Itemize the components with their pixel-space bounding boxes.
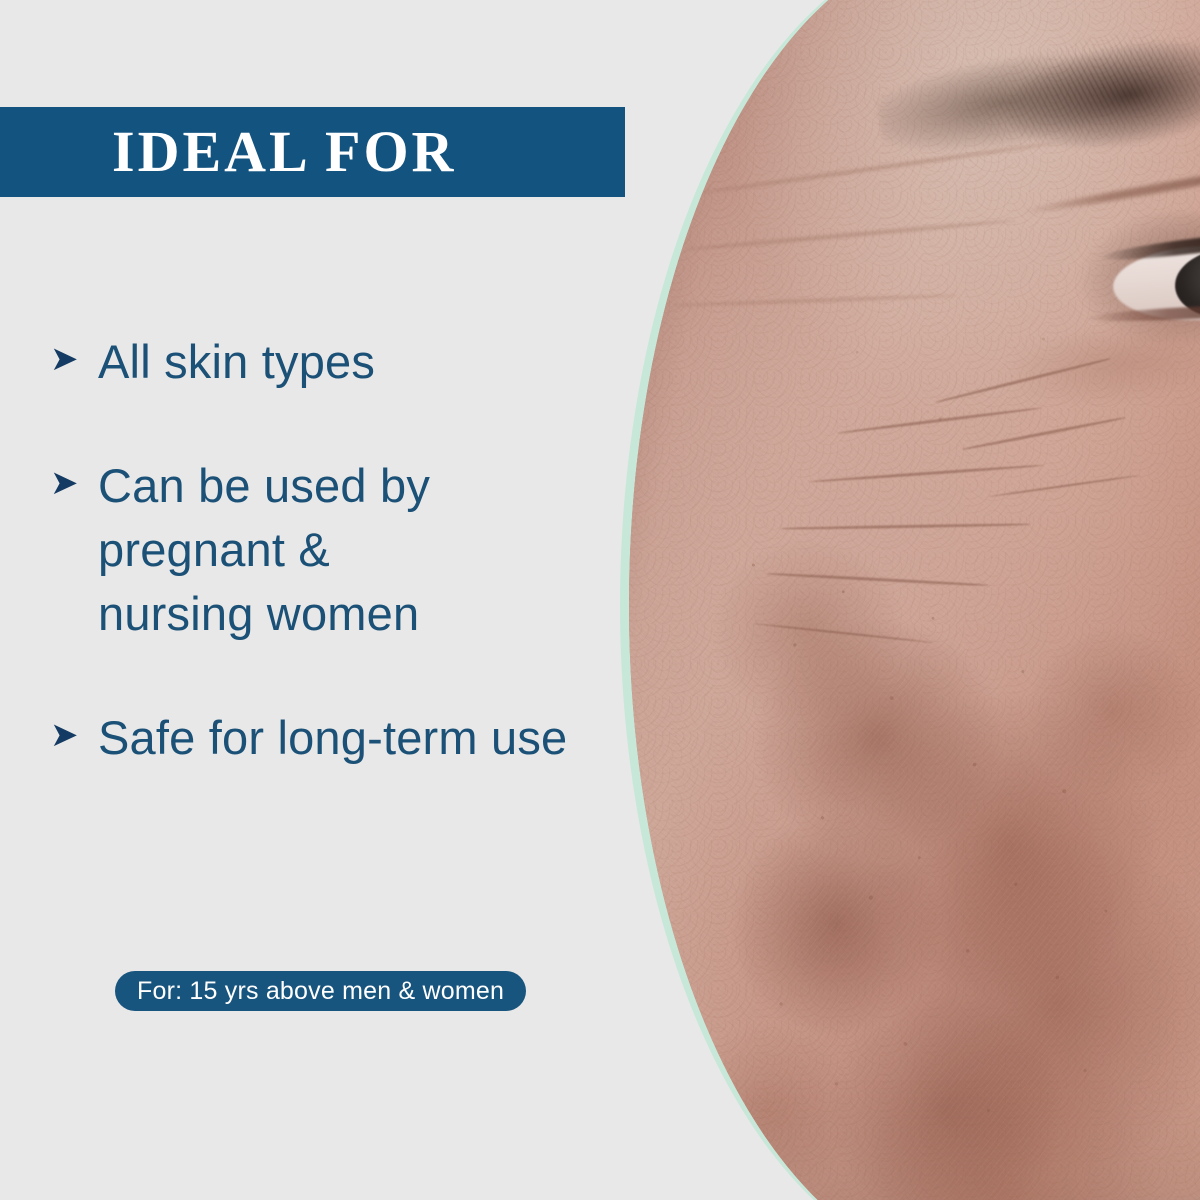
list-item-line: Can be used by bbox=[98, 454, 430, 518]
wrinkle-lines bbox=[629, 0, 1200, 1200]
list-item-text: Safe for long-term use bbox=[98, 706, 567, 770]
list-item: ➤ All skin types bbox=[0, 330, 700, 394]
ideal-for-banner: IDEAL FOR bbox=[0, 107, 625, 197]
arrow-bullet-icon: ➤ bbox=[50, 466, 98, 500]
list-item-text: Can be used by pregnant & nursing women bbox=[98, 454, 430, 646]
list-item: ➤ Safe for long-term use bbox=[0, 706, 700, 770]
face-photo-panel bbox=[620, 0, 1200, 1200]
list-item: ➤ Can be used by pregnant & nursing wome… bbox=[0, 454, 700, 646]
age-badge: For: 15 yrs above men & women bbox=[115, 971, 526, 1011]
benefits-list: ➤ All skin types ➤ Can be used by pregna… bbox=[0, 330, 700, 830]
page-title: IDEAL FOR bbox=[112, 123, 456, 181]
list-item-line: Safe for long-term use bbox=[98, 706, 567, 770]
jaw-shadow bbox=[629, 1084, 1200, 1200]
promo-graphic: IDEAL FOR ➤ All skin types ➤ Can be used… bbox=[0, 0, 1200, 1200]
list-item-text: All skin types bbox=[98, 330, 375, 394]
list-item-line: nursing women bbox=[98, 582, 430, 646]
face-photo bbox=[629, 0, 1200, 1200]
arrow-bullet-icon: ➤ bbox=[50, 718, 98, 752]
arrow-bullet-icon: ➤ bbox=[50, 342, 98, 376]
list-item-line: pregnant & bbox=[98, 518, 430, 582]
list-item-line: All skin types bbox=[98, 330, 375, 394]
